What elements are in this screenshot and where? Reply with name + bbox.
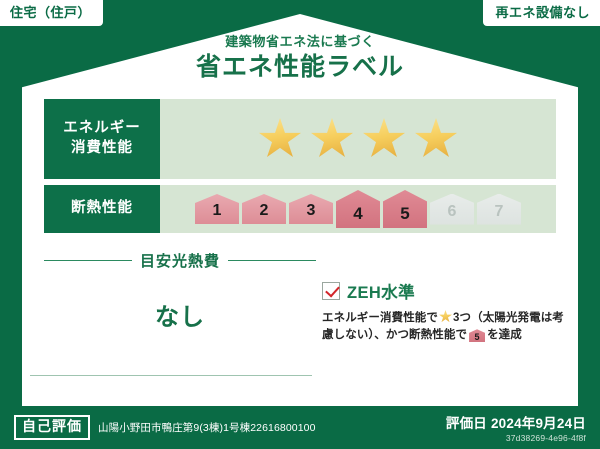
energy-label-line2: 消費性能 <box>71 139 133 159</box>
insulation-level-badge: 3 <box>289 194 333 224</box>
utility-cost-heading-text: 目安光熱費 <box>140 250 220 271</box>
zeh-checkbox-icon <box>322 282 340 300</box>
utility-cost-heading: 目安光熱費 <box>44 250 316 271</box>
zeh-title: ZEH水準 <box>347 279 415 303</box>
title-subtitle: 建築物省エネ法に基づく <box>0 34 600 50</box>
evaluation-id: 37d38269-4e96-4f8f <box>446 433 586 443</box>
utility-cost-section: 目安光熱費 なし <box>44 250 316 332</box>
star-icon <box>363 118 405 160</box>
zeh-desc-part3: を達成 <box>487 329 522 341</box>
zeh-desc-part1: エネルギー消費性能で <box>322 312 438 324</box>
star-icon <box>415 118 457 160</box>
insulation-level-badge: 2 <box>242 194 286 224</box>
panel-divider <box>30 375 312 376</box>
insulation-level-badge: 6 <box>430 194 474 225</box>
energy-consumption-row: エネルギー 消費性能 <box>44 99 556 179</box>
energy-star-rating <box>160 99 556 179</box>
insulation-level-badge: 4 <box>336 190 380 228</box>
insulation-row: 断熱性能 1234567 <box>44 185 556 233</box>
evaluation-date: 評価日 2024年9月24日 <box>446 412 586 432</box>
zeh-section: ZEH水準 エネルギー消費性能で3つ（太陽光発電は考慮しない）、かつ断熱性能で5… <box>322 279 566 345</box>
heading-rule-right <box>228 260 316 261</box>
star-icon <box>439 310 452 323</box>
insulation-level-badge: 1 <box>195 194 239 224</box>
insulation-label-text: 断熱性能 <box>71 199 133 219</box>
insulation-label: 断熱性能 <box>44 185 160 233</box>
energy-label-line1: エネルギー <box>63 119 141 139</box>
zeh-title-row: ZEH水準 <box>322 279 566 303</box>
zeh-description: エネルギー消費性能で3つ（太陽光発電は考慮しない）、かつ断熱性能で5を達成 <box>322 310 566 345</box>
footer-bar: 自己評価 山陽小野田市鴨庄第9(3棟)1号棟22616800100 評価日 20… <box>0 406 600 449</box>
heading-rule-left <box>44 260 132 261</box>
insulation-level-badge: 7 <box>477 194 521 225</box>
self-evaluation-badge: 自己評価 <box>14 415 90 439</box>
badge-building-type: 住宅（住戸） <box>0 0 103 26</box>
energy-performance-label: 住宅（住戸） 再エネ設備なし 建築物省エネ法に基づく 省エネ性能ラベル エネルギ… <box>0 0 600 449</box>
utility-cost-value: なし <box>44 297 316 332</box>
footer-right: 評価日 2024年9月24日 37d38269-4e96-4f8f <box>446 412 586 443</box>
property-address: 山陽小野田市鴨庄第9(3棟)1号棟22616800100 <box>98 420 316 435</box>
house-badge-icon: 5 <box>469 329 485 342</box>
insulation-level-badge: 5 <box>383 190 427 228</box>
star-icon <box>259 118 301 160</box>
performance-rows: エネルギー 消費性能 断熱性能 1234567 <box>44 99 556 239</box>
page-title: 省エネ性能ラベル <box>0 52 600 83</box>
zeh-desc-star-text: 3つ（太陽光発電 <box>453 312 541 324</box>
title-block: 建築物省エネ法に基づく 省エネ性能ラベル <box>0 34 600 83</box>
insulation-level-scale: 1234567 <box>160 185 556 233</box>
energy-consumption-label: エネルギー 消費性能 <box>44 99 160 179</box>
star-icon <box>311 118 353 160</box>
badge-renewable-equipment: 再エネ設備なし <box>483 0 600 26</box>
footer-left: 自己評価 山陽小野田市鴨庄第9(3棟)1号棟22616800100 <box>14 415 446 439</box>
